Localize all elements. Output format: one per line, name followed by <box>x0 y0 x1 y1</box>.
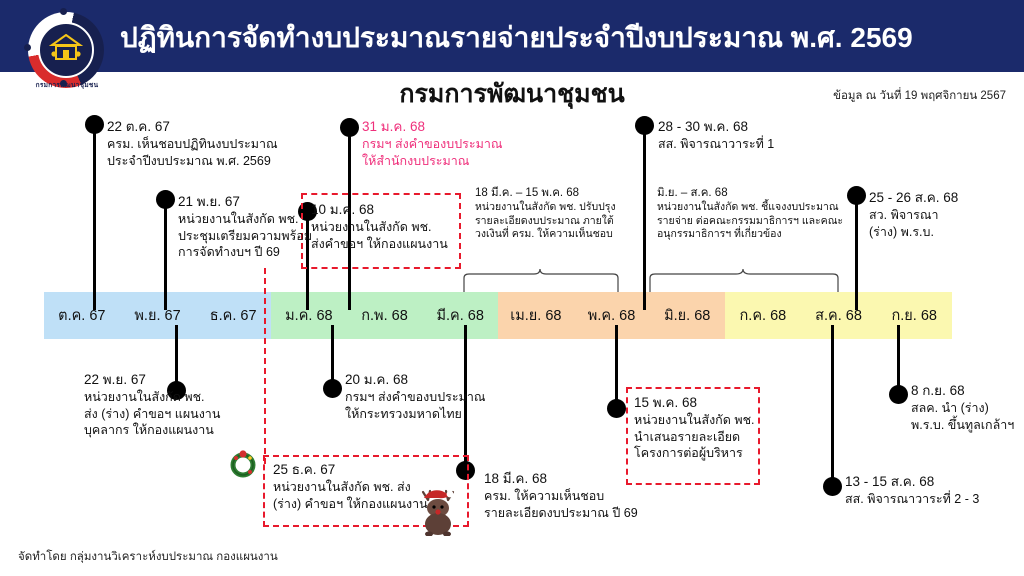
label-date: 25 ธ.ค. 67 <box>273 461 473 478</box>
timeline-month-label: ธ.ค. 67 <box>210 304 257 327</box>
timeline-month-2[interactable]: ธ.ค. 67 <box>195 292 271 339</box>
label-date: 15 พ.ค. 68 <box>634 394 784 411</box>
cdd-logo: กรมการพัฒนาชุมชน <box>20 8 112 100</box>
label-28-30may68: 28 - 30 พ.ค. 68 สส. พิจารณาวาระที่ 1 <box>658 118 878 153</box>
label-date: 22 ต.ค. 67 <box>107 118 327 135</box>
label-line: บุคลากร ให้กองแผนงาน <box>84 422 284 439</box>
timeline-month-7[interactable]: พ.ค. 68 <box>574 292 650 339</box>
brace-jun-aug <box>648 262 840 292</box>
label-date: 20 ม.ค. 68 <box>345 371 545 388</box>
timeline-month-9[interactable]: ก.ค. 68 <box>725 292 801 339</box>
timeline-month-label: เม.ย. 68 <box>510 304 561 327</box>
logo-bead-left <box>24 44 31 51</box>
label-line: รายละเอียดงบประมาณ ปี 69 <box>484 505 704 522</box>
label-line: โครงการต่อผู้บริหาร <box>634 445 784 462</box>
christmas-reindeer-icon <box>416 486 460 541</box>
label-line: หน่วยงานในสังกัด พช. <box>84 389 284 406</box>
label-line: ครม. เห็นชอบปฏิทินงบประมาณ <box>107 136 327 153</box>
label-line: หน่วยงานในสังกัด พช. ปรับปรุง <box>475 201 655 215</box>
pavilion-icon <box>49 34 83 66</box>
label-31jan68: 31 ม.ค. 68 กรมฯ ส่งคำของบประมาณ ให้สำนัก… <box>362 118 562 169</box>
christmas-wreath-icon <box>228 450 258 485</box>
timeline-month-label: ก.พ. 68 <box>361 304 408 327</box>
timeline-month-label: ต.ค. 67 <box>58 304 105 327</box>
label-line: วงเงินที่ ครม. ให้ความเห็นชอบ <box>475 228 655 242</box>
timeline-month-0[interactable]: ต.ค. 67 <box>44 292 120 339</box>
label-line: กรมฯ ส่งคำของบประมาณ <box>362 136 562 153</box>
timeline-month-5[interactable]: มี.ค. 68 <box>422 292 498 339</box>
label-date: 22 พ.ย. 67 <box>84 371 284 388</box>
label-22nov67: 22 พ.ย. 67 หน่วยงานในสังกัด พช. ส่ง (ร่า… <box>84 371 284 439</box>
label-line: หน่วยงานในสังกัด พช. <box>311 219 471 236</box>
timeline-month-4[interactable]: ก.พ. 68 <box>347 292 423 339</box>
timeline-month-label: พ.ย. 67 <box>134 304 180 327</box>
label-line: (ร่าง) พ.ร.บ. <box>869 224 1024 241</box>
logo-bead-top <box>60 8 67 15</box>
label-date: 28 - 30 พ.ค. 68 <box>658 118 878 135</box>
label-line: ให้กระทรวงมหาดไทย <box>345 406 545 423</box>
timeline-month-label: มี.ค. 68 <box>436 304 483 327</box>
logo-caption: กรมการพัฒนาชุมชน <box>26 80 108 90</box>
label-line: ประจำปีงบประมาณ พ.ศ. 2569 <box>107 153 327 170</box>
page-title: ปฏิทินการจัดทำงบประมาณรายจ่ายประจำปีงบปร… <box>120 16 1000 60</box>
label-line: รายจ่าย ต่อคณะกรรมมาธิการฯ และคณะ <box>657 215 877 229</box>
timeline-month-label: พ.ค. 68 <box>588 304 635 327</box>
label-18mar-15may68: 18 มี.ค. – 15 พ.ค. 68 หน่วยงานในสังกัด พ… <box>475 186 655 242</box>
label-25-26aug68: 25 - 26 ส.ค. 68 สว. พิจารณา (ร่าง) พ.ร.บ… <box>869 189 1024 240</box>
label-date: 31 ม.ค. 68 <box>362 118 562 135</box>
brace-mar-may <box>462 262 620 292</box>
label-line: หน่วยงานในสังกัด พช. ชี้แจงงบประมาณ <box>657 201 877 215</box>
timeline-month-label: ก.ค. 68 <box>740 304 787 327</box>
label-line: สส. พิจารณาวาระที่ 1 <box>658 136 878 153</box>
label-line: ให้สำนักงบประมาณ <box>362 153 562 170</box>
label-line: อนุกรรมาธิการฯ ที่เกี่ยวข้อง <box>657 228 877 242</box>
label-line: ส่ง (ร่าง) คำขอฯ แผนงาน <box>84 406 284 423</box>
timeline-month-10[interactable]: ส.ค. 68 <box>801 292 877 339</box>
label-date: 13 - 15 ส.ค. 68 <box>845 473 1024 490</box>
label-line: ครม. ให้ความเห็นชอบ <box>484 488 704 505</box>
label-date: 25 - 26 ส.ค. 68 <box>869 189 1024 206</box>
label-15may68: 15 พ.ค. 68 หน่วยงานในสังกัด พช. นำเสนอรา… <box>634 394 784 462</box>
label-line: สส. พิจารณาวาระที่ 2 - 3 <box>845 491 1024 508</box>
label-line: นำเสนอรายละเอียด <box>634 429 784 446</box>
footer-credit: จัดทำโดย กลุ่มงานวิเคราะห์งบประมาณ กองแผ… <box>18 548 278 566</box>
label-date: 8 ก.ย. 68 <box>911 382 1024 399</box>
label-22oct67: 22 ต.ค. 67 ครม. เห็นชอบปฏิทินงบประมาณ ปร… <box>107 118 327 169</box>
label-18mar68: 18 มี.ค. 68 ครม. ให้ความเห็นชอบ รายละเอี… <box>484 470 704 521</box>
timeline-month-1[interactable]: พ.ย. 67 <box>120 292 196 339</box>
label-date: 10 ม.ค. 68 <box>311 201 471 218</box>
timeline-month-label: มิ.ย. 68 <box>664 304 710 327</box>
label-line: รายละเอียดงบประมาณ ภายใต้ <box>475 215 655 229</box>
label-13-15aug68: 13 - 15 ส.ค. 68 สส. พิจารณาวาระที่ 2 - 3 <box>845 473 1024 508</box>
label-date: 18 มี.ค. 68 <box>484 470 704 487</box>
label-line: ส่งคำขอฯ ให้กองแผนงาน <box>311 236 471 253</box>
timeline-month-6[interactable]: เม.ย. 68 <box>498 292 574 339</box>
label-line: กรมฯ ส่งคำของบประมาณ <box>345 389 545 406</box>
label-line: สลค. นำ (ร่าง) <box>911 400 1024 417</box>
label-10jan68: 10 ม.ค. 68 หน่วยงานในสังกัด พช. ส่งคำขอฯ… <box>311 201 471 252</box>
label-line: สว. พิจารณา <box>869 207 1024 224</box>
data-as-of-date: ข้อมูล ณ วันที่ 19 พฤศจิกายน 2567 <box>833 87 1006 105</box>
label-8sep68: 8 ก.ย. 68 สลค. นำ (ร่าง) พ.ร.บ. ขึ้นทูลเ… <box>911 382 1024 433</box>
timeline-month-label: ก.ย. 68 <box>891 304 937 327</box>
label-date: 18 มี.ค. – 15 พ.ค. 68 <box>475 186 655 200</box>
timeline-bar: ต.ค. 67พ.ย. 67ธ.ค. 67ม.ค. 68ก.พ. 68มี.ค.… <box>44 292 952 339</box>
label-line: หน่วยงานในสังกัด พช. <box>634 412 784 429</box>
label-20jan68: 20 ม.ค. 68 กรมฯ ส่งคำของบประมาณ ให้กระทร… <box>345 371 545 422</box>
budget-calendar-infographic: กรมการพัฒนาชุมชน ปฏิทินการจัดทำงบประมาณร… <box>0 0 1024 576</box>
timeline-month-11[interactable]: ก.ย. 68 <box>876 292 952 339</box>
label-date: มิ.ย. – ส.ค. 68 <box>657 186 877 200</box>
logo-bead-right <box>96 44 103 51</box>
label-line: พ.ร.บ. ขึ้นทูลเกล้าฯ <box>911 417 1024 434</box>
label-jun-aug68: มิ.ย. – ส.ค. 68 หน่วยงานในสังกัด พช. ชี้… <box>657 186 877 242</box>
timeline-month-8[interactable]: มิ.ย. 68 <box>649 292 725 339</box>
